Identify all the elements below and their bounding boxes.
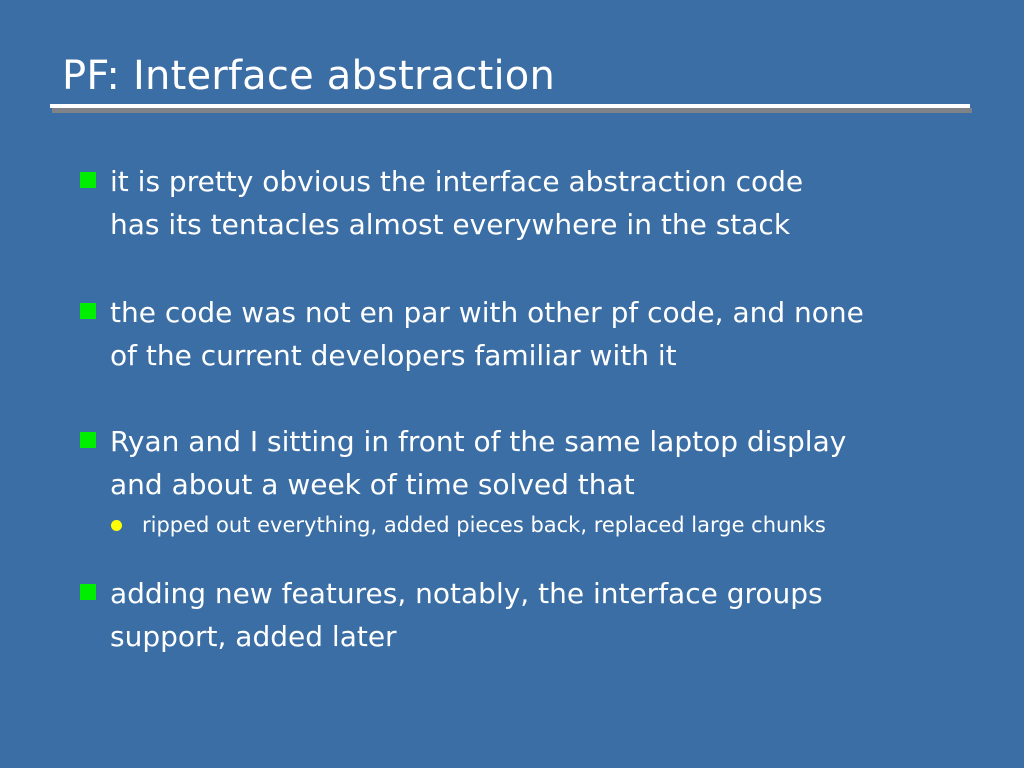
- bullet-line: the code was not en par with other pf co…: [110, 291, 958, 334]
- bullet-item: Ryan and I sitting in front of the same …: [78, 420, 958, 506]
- bullet-item: adding new features, notably, the interf…: [78, 572, 958, 658]
- sub-bullet-item: ripped out everything, added pieces back…: [78, 506, 958, 544]
- bullet-group: the code was not en par with other pf co…: [78, 291, 958, 377]
- sub-bullet-line: ripped out everything, added pieces back…: [142, 506, 958, 544]
- bullet-line: Ryan and I sitting in front of the same …: [110, 420, 958, 463]
- title-underline-rule: [50, 104, 970, 108]
- bullet-line: and about a week of time solved that: [110, 463, 958, 506]
- bullet-group: it is pretty obvious the interface abstr…: [78, 160, 958, 246]
- bullet-item: it is pretty obvious the interface abstr…: [78, 160, 958, 246]
- bullet-line: adding new features, notably, the interf…: [110, 572, 958, 615]
- bullet-group: adding new features, notably, the interf…: [78, 572, 958, 658]
- yellow-dot-bullet-icon: [111, 520, 122, 531]
- green-square-bullet-icon: [80, 432, 96, 448]
- page-title: PF: Interface abstraction: [50, 52, 974, 100]
- bullet-line: has its tentacles almost everywhere in t…: [110, 203, 958, 246]
- presentation-slide: PF: Interface abstraction it is pretty o…: [0, 0, 1024, 768]
- spacer: [78, 246, 958, 291]
- bullet-line: of the current developers familiar with …: [110, 334, 958, 377]
- title-underline-shadow: [52, 108, 972, 113]
- bullet-group: Ryan and I sitting in front of the same …: [78, 420, 958, 544]
- slide-body: it is pretty obvious the interface abstr…: [78, 160, 958, 658]
- slide-title-block: PF: Interface abstraction: [50, 52, 974, 108]
- spacer: [78, 377, 958, 420]
- bullet-item: the code was not en par with other pf co…: [78, 291, 958, 377]
- green-square-bullet-icon: [80, 172, 96, 188]
- bullet-line: it is pretty obvious the interface abstr…: [110, 160, 958, 203]
- spacer: [78, 544, 958, 572]
- bullet-line: support, added later: [110, 615, 958, 658]
- green-square-bullet-icon: [80, 584, 96, 600]
- green-square-bullet-icon: [80, 303, 96, 319]
